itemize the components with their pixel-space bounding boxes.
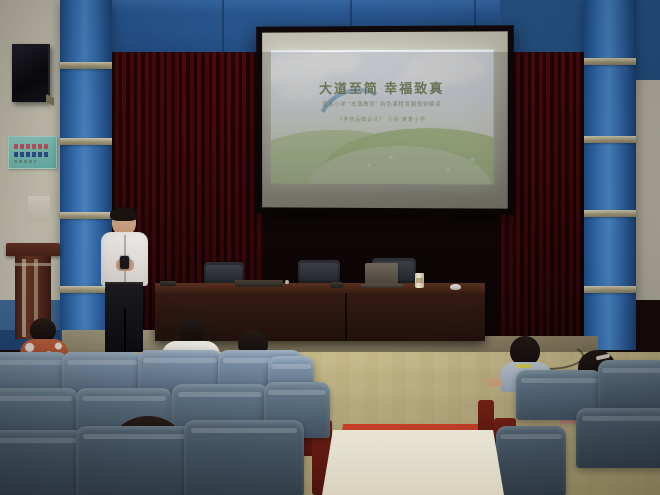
table-seam (345, 293, 347, 341)
wall-poster (8, 136, 57, 169)
column-band (60, 62, 112, 69)
presentation-slide: ✳ ✳ ✳ ✳ 大道至简 幸福致真 某某小学 "本真教育" 特色课程发展规划解读… (271, 50, 494, 185)
column-band (584, 210, 636, 217)
wall-notice (28, 196, 50, 222)
desk-phone (160, 281, 176, 286)
projection-screen: ✳ ✳ ✳ ✳ 大道至简 幸福致真 某某小学 "本真教育" 特色课程发展规划解读… (256, 25, 514, 215)
auditorium-seat[interactable] (0, 430, 88, 495)
sparkle-icon: ✳ (445, 166, 451, 174)
auditorium-seat[interactable] (576, 408, 660, 468)
slide-subtitle-1: 某某小学 "本真教育" 特色课程发展规划解读 (271, 100, 494, 108)
desk-small-object (285, 280, 289, 284)
podium-band (13, 263, 53, 266)
aisle-edge (322, 430, 504, 495)
slide-title: 大道至简 幸福致真 (271, 78, 494, 97)
presenter-hair (110, 207, 138, 221)
lanyard (516, 364, 532, 368)
auditorium-seat[interactable] (184, 420, 304, 495)
sparkle-icon: ✳ (469, 156, 475, 164)
sparkle-icon: ✳ (366, 162, 372, 170)
wall-speaker-icon (12, 44, 50, 102)
presenter (94, 209, 156, 357)
column-band (584, 286, 636, 293)
auditorium-scene: ✳ ✳ ✳ ✳ 大道至简 幸福致真 某某小学 "本真教育" 特色课程发展规划解读… (0, 0, 660, 495)
computer-mouse (450, 284, 461, 290)
podium-top (6, 243, 60, 256)
laptop-screen (365, 263, 398, 285)
desk-papers (235, 280, 283, 287)
column-band (60, 138, 112, 145)
column-band (584, 58, 636, 65)
blue-column-right (584, 0, 636, 350)
screen-surface: ✳ ✳ ✳ ✳ 大道至简 幸福致真 某某小学 "本真教育" 特色课程发展规划解读… (262, 31, 508, 208)
auditorium-seat[interactable] (496, 426, 566, 495)
slide-subtitle-2: 《学校品牌设计》 介绍 某某小学 (271, 116, 494, 123)
column-band (584, 136, 636, 143)
laptop-base (361, 284, 403, 288)
arch-seam (222, 0, 224, 58)
poster-text-line-3 (14, 160, 36, 163)
table-surface (155, 283, 485, 293)
mobile-phone-icon (120, 256, 129, 269)
poster-text-line-2 (14, 152, 50, 157)
poster-text-line-1 (14, 144, 48, 149)
sparkle-icon: ✳ (388, 154, 394, 162)
auditorium-seat[interactable] (598, 360, 660, 408)
auditorium-seat[interactable] (76, 426, 194, 495)
cloud-icon (301, 50, 361, 74)
trouser-seam (124, 309, 126, 354)
paper-cup (415, 273, 424, 288)
microphone (330, 282, 344, 288)
attendee-hand (486, 378, 502, 387)
